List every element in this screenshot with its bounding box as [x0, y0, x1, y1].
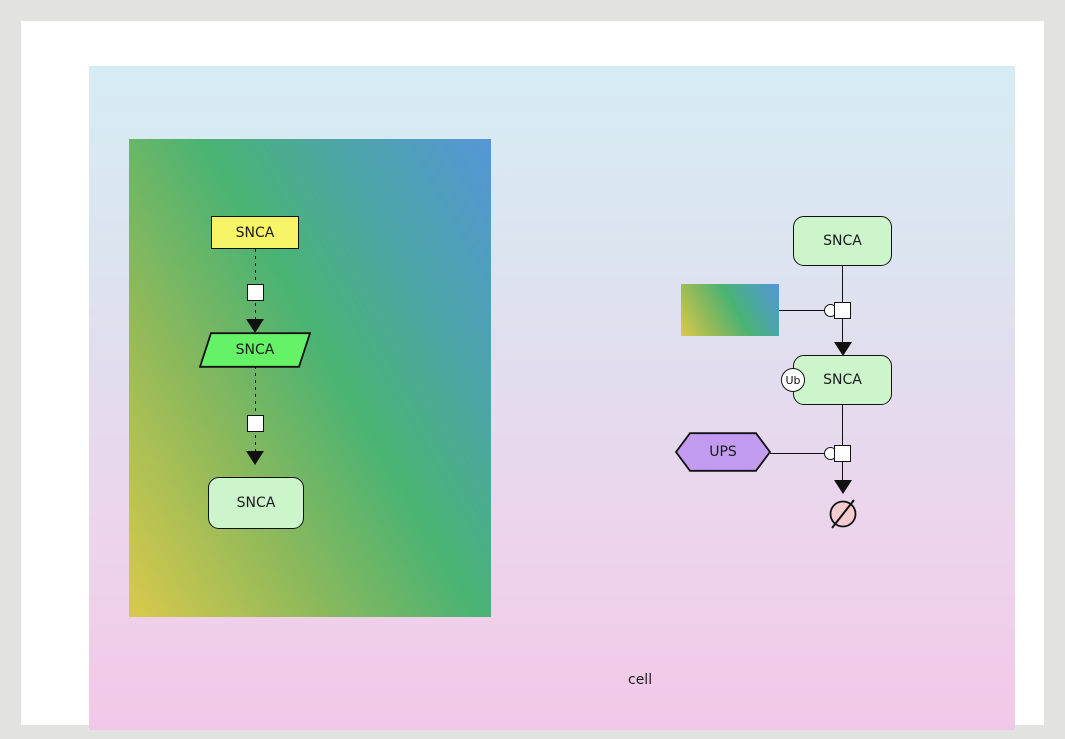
node-label: SNCA	[794, 373, 891, 387]
arrowhead-transcription-to-rna	[246, 319, 264, 333]
node-label: SNCA	[212, 226, 298, 240]
edge-ub-protein-to-degradation	[842, 405, 843, 445]
process-transcription[interactable]	[247, 284, 264, 301]
sink-slashed-circle-icon	[827, 497, 859, 531]
node-snca-protein-cytosol[interactable]: SNCA	[793, 216, 892, 266]
process-ubiquitination[interactable]	[834, 302, 851, 319]
node-ups[interactable]: UPS	[675, 432, 771, 472]
arrowhead-degradation-to-sink	[834, 480, 852, 494]
edge-protein-to-ubiquitination	[842, 266, 843, 302]
screenshot-root: SNCA SNCA	[0, 0, 1065, 739]
compartment-nucleus[interactable]	[129, 139, 491, 617]
arrowhead-ubiquitination-to-ub-protein	[834, 342, 852, 356]
process-translation[interactable]	[247, 415, 264, 432]
state-variable-ub[interactable]: Ub	[781, 368, 805, 392]
process-degradation[interactable]	[834, 445, 851, 462]
edge-gene-to-transcription	[255, 249, 257, 284]
state-variable-label: Ub	[785, 375, 800, 386]
node-snca-protein-ub[interactable]: SNCA	[793, 355, 892, 405]
node-snca-gene[interactable]: SNCA	[211, 216, 299, 249]
compartment-nucleus-reference[interactable]	[681, 284, 779, 336]
diagram-canvas[interactable]: SNCA SNCA	[89, 66, 1015, 730]
node-snca-rna[interactable]: SNCA	[199, 332, 311, 368]
rna-parallelogram-shape	[199, 332, 311, 368]
ups-hexagon-shape	[675, 432, 771, 472]
compartment-label-cell: cell	[628, 672, 652, 688]
node-label: SNCA	[209, 496, 303, 510]
page-sheet: SNCA SNCA	[21, 21, 1044, 725]
node-degraded-sink[interactable]	[827, 497, 859, 531]
arrowhead-translation-to-protein	[246, 451, 264, 465]
node-label: SNCA	[794, 234, 891, 248]
node-snca-protein-nucleus[interactable]: SNCA	[208, 477, 304, 529]
edge-rna-to-translation	[255, 366, 257, 415]
